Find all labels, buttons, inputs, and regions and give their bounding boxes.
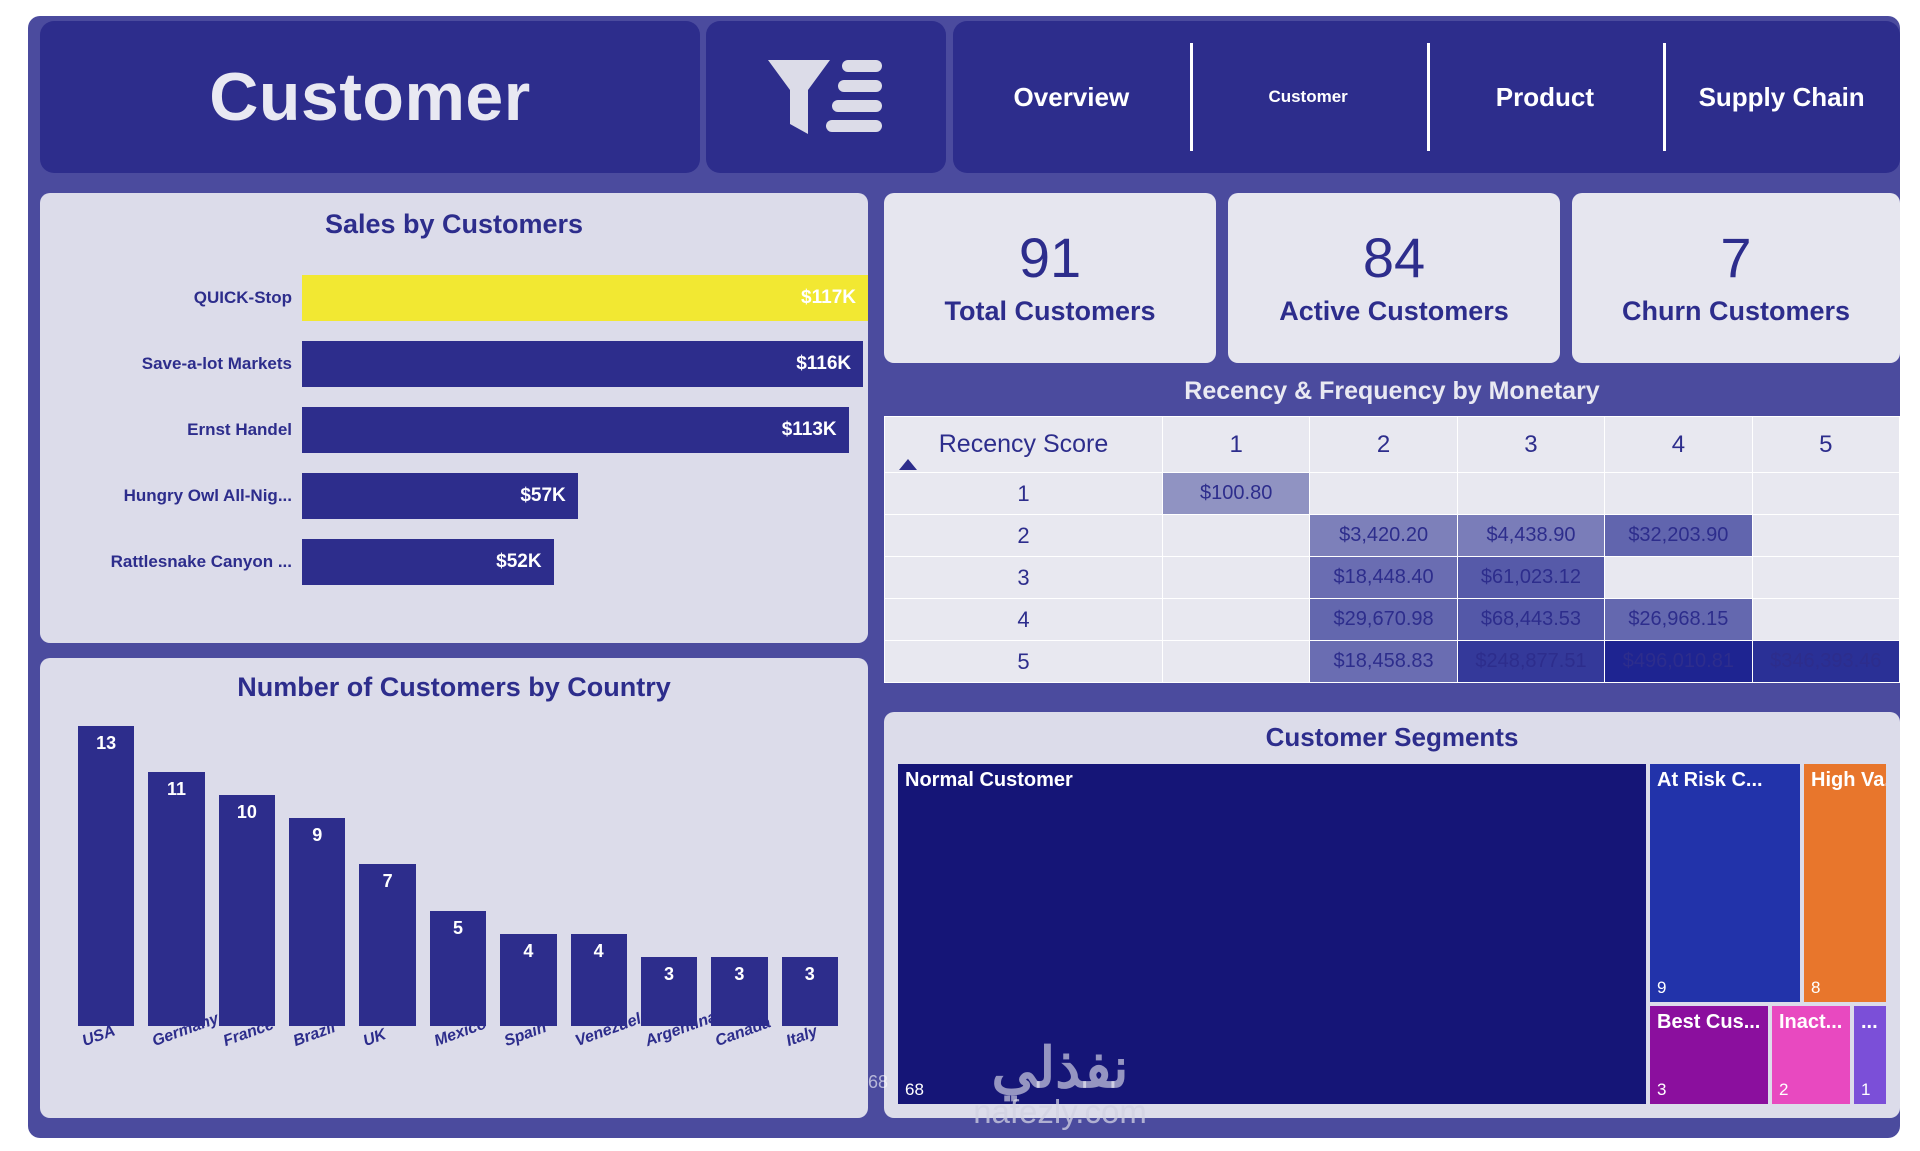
country-bar-item[interactable]: 11: [148, 726, 204, 1026]
segment-tile-at-risk[interactable]: At Risk C... 9: [1650, 764, 1800, 1002]
sales-bar-track: $113K: [302, 407, 868, 453]
matrix-cell[interactable]: [1605, 473, 1752, 515]
matrix-row[interactable]: 2$3,420.20$4,438.90$32,203.90: [885, 515, 1900, 557]
matrix-cell[interactable]: [1163, 599, 1310, 641]
sales-bar-value: $52K: [496, 551, 541, 573]
country-label-slot: Brazil: [289, 1030, 345, 1110]
sales-bar-fill[interactable]: $117K: [302, 275, 868, 321]
segment-tile-normal-customer[interactable]: Normal Customer 68: [898, 764, 1646, 1104]
matrix-row-label[interactable]: 2: [885, 515, 1163, 557]
matrix-row[interactable]: 4$29,670.98$68,443.53$26,968.15: [885, 599, 1900, 641]
segment-tile-best-customer-label: Best Cus...: [1657, 1011, 1760, 1034]
sales-bar-row[interactable]: Rattlesnake Canyon ...$52K: [40, 529, 868, 595]
matrix-row-label[interactable]: 1: [885, 473, 1163, 515]
sales-bar-row[interactable]: Save-a-lot Markets$116K: [40, 331, 868, 397]
segment-right-bottom-row: Best Cus... 3 Inact... 2 ... 1: [1650, 1006, 1886, 1104]
sales-bar-row[interactable]: QUICK-Stop$117K: [40, 265, 868, 331]
matrix-column-header[interactable]: 3: [1457, 417, 1604, 473]
country-bar-value: 4: [594, 941, 604, 962]
country-bar-item[interactable]: 3: [641, 726, 697, 1026]
segment-right-top-row: At Risk C... 9 High Va... 8: [1650, 764, 1886, 1002]
matrix-cell[interactable]: $18,448.40: [1310, 557, 1457, 599]
tab-customer-label: Customer: [1268, 87, 1347, 107]
tab-supply-chain-label: Supply Chain: [1699, 82, 1865, 113]
customer-segments-treemap: Normal Customer 68 At Risk C... 9 High V…: [898, 764, 1886, 1104]
customer-segments-title: Customer Segments: [884, 722, 1900, 753]
country-bar-value: 3: [734, 964, 744, 985]
kpi-active-customers-value: 84: [1363, 230, 1425, 286]
kpi-total-customers-value: 91: [1019, 230, 1081, 286]
matrix-row-label[interactable]: 4: [885, 599, 1163, 641]
country-bar[interactable]: 4: [571, 934, 627, 1026]
matrix-cell[interactable]: [1605, 557, 1752, 599]
sales-by-customers-card[interactable]: Sales by Customers QUICK-Stop$117KSave-a…: [40, 193, 868, 643]
matrix-row[interactable]: 1$100.80: [885, 473, 1900, 515]
country-bar-value: 10: [237, 802, 257, 823]
treemap-total-count: 68: [868, 1072, 888, 1093]
tab-product[interactable]: Product: [1427, 21, 1664, 173]
segment-tile-high-value[interactable]: High Va... 8: [1804, 764, 1886, 1002]
country-bar[interactable]: 3: [711, 957, 767, 1026]
matrix-column-header[interactable]: 1: [1163, 417, 1310, 473]
segment-tile-inactive-label: Inact...: [1779, 1011, 1842, 1034]
matrix-cell[interactable]: $346,393.46: [1752, 641, 1899, 683]
matrix-cell[interactable]: $18,458.83: [1310, 641, 1457, 683]
country-bar-item[interactable]: 4: [500, 726, 556, 1026]
matrix-row[interactable]: 5$18,458.83$248,877.51$496,010.81$346,39…: [885, 641, 1900, 683]
country-axis-label: UK: [361, 1026, 389, 1051]
country-label-slot: USA: [78, 1030, 134, 1110]
sales-bar-list: QUICK-Stop$117KSave-a-lot Markets$116KEr…: [40, 265, 868, 595]
matrix-row-label[interactable]: 5: [885, 641, 1163, 683]
sales-bar-track: $116K: [302, 341, 868, 387]
segment-tile-inactive[interactable]: Inact... 2: [1772, 1006, 1850, 1104]
country-bar-item[interactable]: 7: [359, 726, 415, 1026]
matrix-row-header[interactable]: Recency Score: [885, 417, 1163, 473]
matrix-column-header[interactable]: 4: [1605, 417, 1752, 473]
kpi-churn-customers-label: Churn Customers: [1622, 296, 1850, 327]
segment-tile-normal-customer-label: Normal Customer: [905, 769, 1073, 792]
sort-ascending-icon[interactable]: [899, 459, 917, 470]
tab-supply-chain[interactable]: Supply Chain: [1663, 21, 1900, 173]
segment-tile-normal-customer-value: 68: [905, 1080, 924, 1100]
matrix-cell[interactable]: $4,438.90: [1457, 515, 1604, 557]
sales-bar-track: $52K: [302, 539, 868, 585]
page-title-card: Customer: [40, 21, 700, 173]
matrix-cell[interactable]: [1163, 557, 1310, 599]
country-bar-item[interactable]: 3: [782, 726, 838, 1026]
recency-frequency-matrix-title: Recency & Frequency by Monetary: [884, 375, 1900, 416]
funnel-filter-icon: [766, 54, 886, 140]
country-label-slot: Canada: [711, 1030, 767, 1110]
kpi-active-customers-label: Active Customers: [1279, 296, 1509, 327]
country-label-slot: Spain: [500, 1030, 556, 1110]
country-bar-value: 4: [523, 941, 533, 962]
sales-bar-row[interactable]: Ernst Handel$113K: [40, 397, 868, 463]
kpi-total-customers-label: Total Customers: [944, 296, 1155, 327]
recency-frequency-table[interactable]: Recency Score12345 1$100.802$3,420.20$4,…: [884, 416, 1900, 683]
country-bar-item[interactable]: 4: [571, 726, 627, 1026]
sales-bar-row[interactable]: Hungry Owl All-Nig...$57K: [40, 463, 868, 529]
matrix-cell[interactable]: [1457, 473, 1604, 515]
sales-bar-value: $113K: [782, 419, 837, 441]
country-label-slot: Germany: [148, 1030, 204, 1110]
matrix-cell[interactable]: $29,670.98: [1310, 599, 1457, 641]
matrix-header-row: Recency Score12345: [885, 417, 1900, 473]
country-label-slot: Venezuela: [571, 1030, 627, 1110]
country-bar-item[interactable]: 5: [430, 726, 486, 1026]
country-bar-value: 7: [383, 871, 393, 892]
matrix-cell[interactable]: $68,443.53: [1457, 599, 1604, 641]
sales-bar-label: Rattlesnake Canyon ...: [40, 552, 302, 572]
matrix-cell[interactable]: $496,010.81: [1605, 641, 1752, 683]
matrix-cell[interactable]: [1752, 557, 1899, 599]
customers-by-country-card[interactable]: Number of Customers by Country 131110975…: [40, 658, 868, 1118]
country-label-slot: UK: [359, 1030, 415, 1110]
country-bar[interactable]: 4: [500, 934, 556, 1026]
tab-product-label: Product: [1496, 82, 1594, 113]
tab-overview[interactable]: Overview: [953, 21, 1190, 173]
matrix-cell[interactable]: [1310, 473, 1457, 515]
country-bar[interactable]: 13: [78, 726, 134, 1026]
matrix-cell[interactable]: $32,203.90: [1605, 515, 1752, 557]
segment-tile-other-value: 1: [1861, 1080, 1870, 1100]
sales-bar-track: $57K: [302, 473, 868, 519]
matrix-cell[interactable]: [1163, 515, 1310, 557]
sales-bar-value: $116K: [796, 353, 851, 375]
sales-bar-fill[interactable]: $52K: [302, 539, 554, 585]
segment-tile-best-customer[interactable]: Best Cus... 3: [1650, 1006, 1768, 1104]
segment-tile-at-risk-value: 9: [1657, 978, 1666, 998]
country-bar[interactable]: 11: [148, 772, 204, 1026]
filter-button[interactable]: [706, 21, 946, 173]
kpi-churn-customers-value: 7: [1720, 230, 1751, 286]
nav-tabs: Overview Customer Product Supply Chain: [953, 21, 1900, 173]
segment-tile-other[interactable]: ... 1: [1854, 1006, 1886, 1104]
customers-by-country-title: Number of Customers by Country: [40, 672, 868, 703]
matrix-cell[interactable]: [1163, 641, 1310, 683]
matrix-cell[interactable]: [1752, 473, 1899, 515]
segment-right-group: At Risk C... 9 High Va... 8 Best Cus... …: [1650, 764, 1886, 1104]
country-bar[interactable]: 3: [782, 957, 838, 1026]
country-bar[interactable]: 10: [219, 795, 275, 1026]
segment-tile-high-value-value: 8: [1811, 978, 1820, 998]
country-bar-value: 13: [96, 733, 116, 754]
country-bar-item[interactable]: 10: [219, 726, 275, 1026]
country-label-slot: Mexico: [430, 1030, 486, 1110]
sales-bar-label: QUICK-Stop: [40, 288, 302, 308]
country-bar-item[interactable]: 3: [711, 726, 767, 1026]
sales-bar-track: $117K: [302, 275, 868, 321]
sales-bar-label: Hungry Owl All-Nig...: [40, 486, 302, 506]
sales-bar-fill[interactable]: $113K: [302, 407, 849, 453]
country-bar-value: 3: [805, 964, 815, 985]
matrix-cell[interactable]: $3,420.20: [1310, 515, 1457, 557]
kpi-total-customers[interactable]: 91 Total Customers: [884, 193, 1216, 363]
segment-tile-best-customer-value: 3: [1657, 1080, 1666, 1100]
country-axis-labels: USAGermanyFranceBrazilUKMexicoSpainVenez…: [78, 1030, 838, 1110]
matrix-cell[interactable]: [1752, 599, 1899, 641]
matrix-row[interactable]: 3$18,448.40$61,023.12: [885, 557, 1900, 599]
country-bar-value: 3: [664, 964, 674, 985]
matrix-cell[interactable]: $26,968.15: [1605, 599, 1752, 641]
matrix-cell[interactable]: $248,877.51: [1457, 641, 1604, 683]
segment-tile-at-risk-label: At Risk C...: [1657, 769, 1763, 792]
country-axis-label: USA: [80, 1022, 118, 1050]
country-bar-item[interactable]: 9: [289, 726, 345, 1026]
kpi-active-customers[interactable]: 84 Active Customers: [1228, 193, 1560, 363]
matrix-cell[interactable]: $100.80: [1163, 473, 1310, 515]
page-title: Customer: [209, 58, 530, 136]
customer-segments-card[interactable]: Customer Segments Normal Customer 68 At …: [884, 712, 1900, 1118]
country-bar-value: 9: [312, 825, 322, 846]
segment-tile-other-label: ...: [1861, 1011, 1878, 1034]
tab-overview-label: Overview: [1014, 82, 1130, 113]
sales-bar-label: Save-a-lot Markets: [40, 354, 302, 374]
segment-tile-inactive-value: 2: [1779, 1080, 1788, 1100]
country-label-slot: Italy: [782, 1030, 838, 1110]
country-axis-label: Italy: [784, 1023, 820, 1051]
dashboard-canvas: Customer Overview Customer Product Suppl…: [0, 0, 1920, 1151]
sales-by-customers-title: Sales by Customers: [40, 209, 868, 240]
country-bar-item[interactable]: 13: [78, 726, 134, 1026]
sales-bar-value: $117K: [801, 287, 856, 309]
matrix-cell[interactable]: $61,023.12: [1457, 557, 1604, 599]
sales-bar-label: Ernst Handel: [40, 420, 302, 440]
matrix-row-label[interactable]: 3: [885, 557, 1163, 599]
sales-bar-value: $57K: [520, 485, 565, 507]
country-label-slot: France: [219, 1030, 275, 1110]
matrix-column-header[interactable]: 2: [1310, 417, 1457, 473]
country-bar[interactable]: 5: [430, 911, 486, 1026]
matrix-body: 1$100.802$3,420.20$4,438.90$32,203.903$1…: [885, 473, 1900, 683]
country-label-slot: Argentina: [641, 1030, 697, 1110]
country-bar[interactable]: 7: [359, 864, 415, 1026]
country-bar-value: 11: [167, 779, 186, 800]
recency-frequency-matrix[interactable]: Recency & Frequency by Monetary Recency …: [884, 375, 1900, 697]
segment-tile-high-value-label: High Va...: [1811, 769, 1886, 792]
sales-bar-fill[interactable]: $57K: [302, 473, 578, 519]
kpi-churn-customers[interactable]: 7 Churn Customers: [1572, 193, 1900, 363]
country-bar-plot: 13111097544333: [78, 726, 838, 1026]
country-bar-value: 5: [453, 918, 463, 939]
matrix-column-header[interactable]: 5: [1752, 417, 1899, 473]
matrix-cell[interactable]: [1752, 515, 1899, 557]
country-bar[interactable]: 9: [289, 818, 345, 1026]
sales-bar-fill[interactable]: $116K: [302, 341, 863, 387]
tab-customer[interactable]: Customer: [1190, 21, 1427, 173]
